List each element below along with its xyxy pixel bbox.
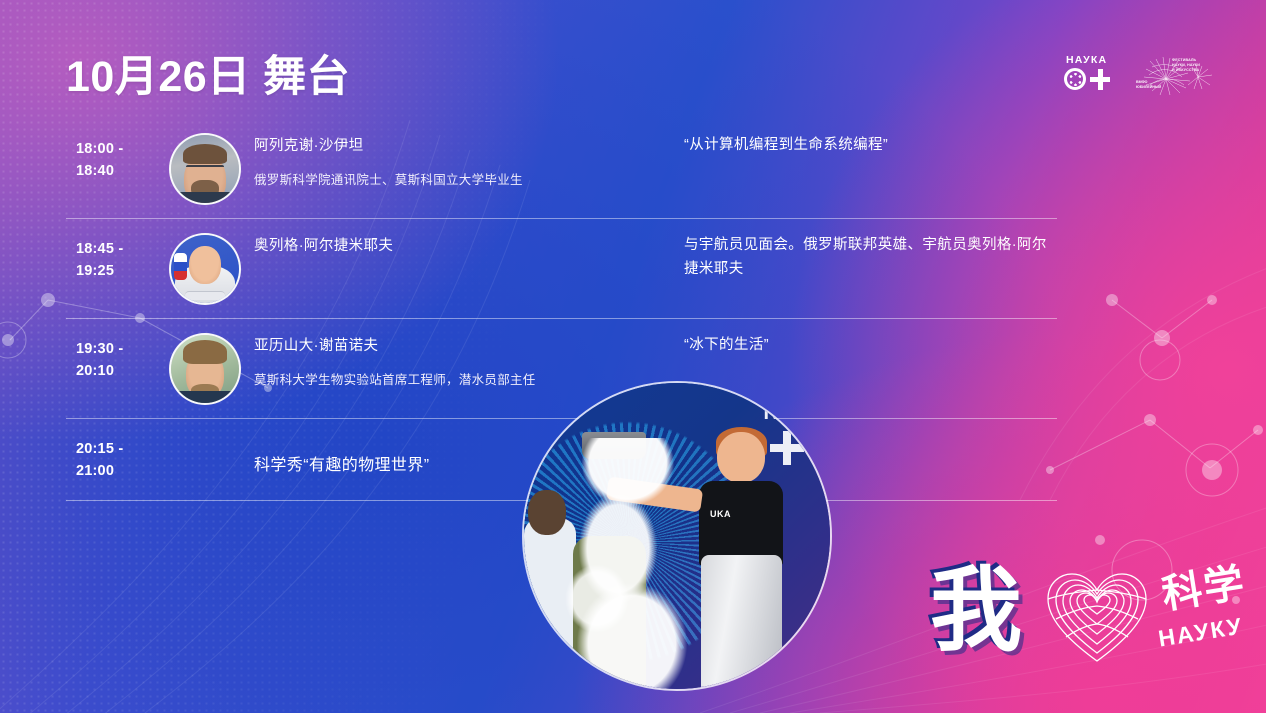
i-love-science-lockup: 我 科学 НАУКУ — [922, 551, 1252, 701]
presenter-figure: UKA — [695, 432, 787, 689]
avatar — [169, 233, 241, 305]
poster-header: 10月26日 舞台 НАУКА — [0, 0, 1266, 120]
nauka-wordmark: НАУКА — [1066, 54, 1107, 66]
schedule-row[interactable]: 18:45 - 19:25 奥列格·阿尔捷米耶夫 与宇航员见面会。俄罗斯联邦英雄… — [0, 218, 1266, 318]
photo-scene: NAU UKA — [524, 383, 830, 689]
session-time: 19:30 - 20:10 — [76, 338, 166, 383]
avatar — [169, 333, 241, 405]
dry-ice-fog — [555, 438, 696, 689]
festival-logo: ФЕСТИВАЛЬ НАУКИ, НАУКИ И ИСКУССТВА ВМФО … — [1136, 55, 1220, 97]
plus-icon — [1090, 69, 1110, 90]
portrait-man-glasses-beard-icon — [171, 135, 239, 203]
shirt-logo-text: UKA — [710, 509, 731, 519]
portrait-man-long-hair-icon — [171, 335, 239, 403]
session-time: 18:45 - 19:25 — [76, 238, 166, 283]
portrait-cosmonaut-spacesuit-icon — [171, 235, 239, 303]
speaker-name: 亚历山大·谢苗诺夫 — [254, 336, 654, 358]
page-title: 10月26日 舞台 — [66, 42, 350, 104]
row-divider — [66, 218, 1057, 219]
speaker-role: 俄罗斯科学院通讯院士、莫斯科国立大学毕业生 — [254, 171, 674, 190]
row-divider — [66, 318, 1057, 319]
nauka-0-plus-logo: НАУКА — [1064, 54, 1122, 98]
backdrop-nauka-text: NAU — [763, 399, 814, 425]
session-time: 18:00 - 18:40 — [76, 138, 166, 183]
talk-title: “从计算机编程到生命系统编程” — [684, 134, 1054, 158]
festival-subtitle: ВМФО ЮБИЛЕЙНЫЙ — [1136, 80, 1166, 90]
love-chinese-science: 科学 — [1159, 563, 1248, 616]
love-chinese-i: 我 — [930, 565, 1022, 657]
science-show-photo: NAU UKA — [522, 381, 832, 691]
speaker-name: 阿列克谢·沙伊坦 — [254, 136, 654, 158]
heart-wireframe-icon — [1042, 567, 1152, 667]
presenter-shirt — [699, 481, 783, 566]
presenter-head — [717, 432, 765, 483]
avatar — [169, 133, 241, 205]
nauka-mark — [1064, 68, 1110, 90]
festival-name: ФЕСТИВАЛЬ НАУКИ, НАУКИ И ИСКУССТВА — [1172, 58, 1220, 74]
talk-title: 与宇航员见面会。俄罗斯联邦英雄、宇航员奥列格·阿尔捷米耶夫 — [684, 234, 1054, 282]
schedule-row[interactable]: 18:00 - 18:40 阿列克谢·沙伊坦 俄罗斯科学院通讯院士、莫斯科国立大… — [0, 118, 1266, 218]
sun-circle-icon — [1064, 68, 1086, 90]
presenter-silver-overalls — [701, 555, 782, 689]
speaker-name: 奥列格·阿尔捷米耶夫 — [254, 236, 654, 258]
love-russian-nauku: НАУКУ — [1157, 612, 1246, 652]
talk-title: “冰下的生活” — [684, 334, 1054, 358]
poster-stage: 10月26日 舞台 НАУКА — [0, 0, 1266, 713]
session-time: 20:15 - 21:00 — [76, 438, 166, 483]
logo-group: НАУКА — [1064, 54, 1220, 98]
